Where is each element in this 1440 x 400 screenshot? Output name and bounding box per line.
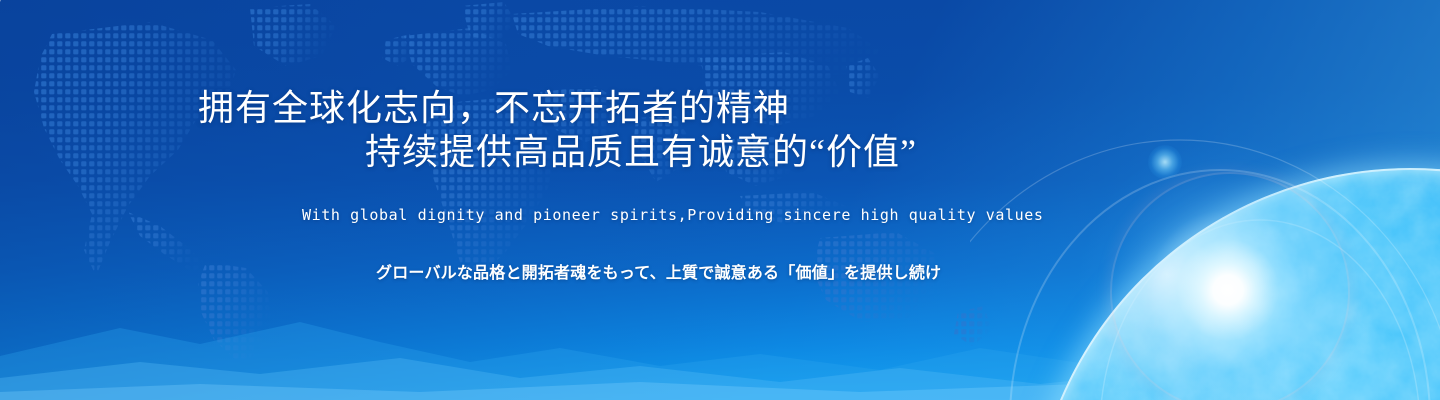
subtitle-japanese: グローバルな品格と開拓者魂をもって、上質で誠意ある「価値」を提供し続け bbox=[376, 259, 941, 283]
headline-line-1: 拥有全球化志向，不忘开拓者的精神 bbox=[0, 86, 920, 130]
headline: 拥有全球化志向，不忘开拓者的精神 持续提供高品质且有诚意的“价值” bbox=[0, 86, 920, 174]
banner-copy: 拥有全球化志向，不忘开拓者的精神 持续提供高品质且有诚意的“价值” With g… bbox=[0, 0, 1000, 400]
headline-line-2: 持续提供高品质且有诚意的“价值” bbox=[0, 130, 920, 174]
glow-orb bbox=[1148, 145, 1182, 179]
subtitle-english: With global dignity and pioneer spirits,… bbox=[302, 206, 1044, 224]
hero-banner: 拥有全球化志向，不忘开拓者的精神 持续提供高品质且有诚意的“价值” With g… bbox=[0, 0, 1440, 400]
